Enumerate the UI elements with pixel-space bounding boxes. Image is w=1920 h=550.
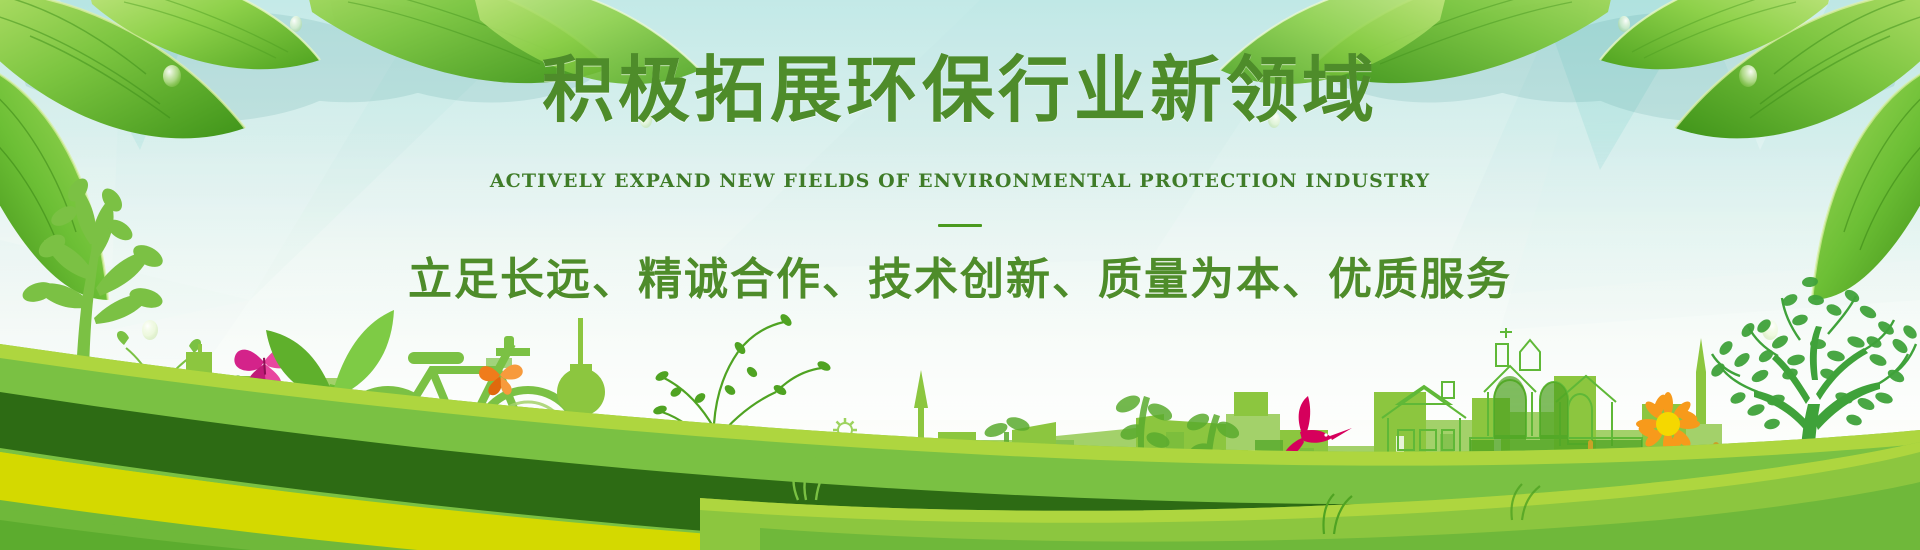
- cattail-grass-icon: [1644, 438, 1710, 532]
- cattail-head: [1588, 440, 1593, 454]
- eco-banner: 积极拓展环保行业新领域 ACTIVELY EXPAND NEW FIELDS O…: [0, 0, 1920, 550]
- fence-icon: [1560, 484, 1626, 514]
- leafy-tree-icon: [1709, 276, 1919, 520]
- title-divider: [938, 224, 982, 227]
- page-subtitle: ACTIVELY EXPAND NEW FIELDS OF ENVIRONMEN…: [0, 170, 1920, 192]
- village-foreground: [1255, 440, 1374, 534]
- grass-tuft-icon: [203, 404, 254, 470]
- european-house-line-art-icon: [1382, 328, 1642, 528]
- building-windows: [1098, 436, 1501, 522]
- grass-tuft-icon: [1511, 484, 1540, 520]
- page-title: 积极拓展环保行业新领域: [0, 54, 1920, 126]
- cattail-head: [1737, 452, 1743, 467]
- cattail-grass-icon: [1562, 448, 1590, 500]
- oriental-pearl-tower-icon: [552, 318, 610, 542]
- small-flower-outline-icon: [833, 418, 857, 442]
- hummingbird-icon: [1280, 396, 1352, 464]
- city-skyline-icon: [186, 344, 390, 478]
- cattail-head: [1713, 442, 1719, 458]
- water-droplet-icon: [142, 320, 158, 340]
- building-dots: [221, 375, 247, 395]
- grass-tuft-icon: [1323, 494, 1352, 534]
- branching-plant-icon: [658, 322, 822, 520]
- building-shading: [1056, 432, 1454, 534]
- city-skyline-icon: [860, 338, 1722, 534]
- flower-pink-icon: [868, 466, 900, 498]
- grass-hill-wave-shape: [0, 344, 1920, 550]
- tower-rungs: [576, 416, 587, 503]
- sunflower-icon: [1624, 392, 1716, 520]
- flower-orange-icon: [208, 399, 254, 445]
- skyline-vine-icon: [983, 392, 1242, 480]
- company-tagline: 立足长远、精诚合作、技术创新、质量为本、优质服务: [0, 258, 1920, 302]
- sapling-tree-icon: [20, 175, 166, 470]
- branch-leaf-tips: [113, 331, 201, 400]
- red-stick-accent: [944, 472, 962, 494]
- ladybug-icon: [990, 469, 1031, 499]
- village-fill: [1470, 376, 1642, 532]
- grass-tuft-icon: [794, 458, 835, 500]
- red-berries: [580, 458, 604, 492]
- flower-pink-icon: [1581, 452, 1613, 504]
- cattail-grass-icon: [1685, 450, 1738, 514]
- butterfly-icon: [234, 347, 296, 391]
- bicycle-details: [408, 336, 530, 450]
- bicycle-icon: [336, 344, 580, 494]
- butterfly-icon: [479, 365, 523, 396]
- plant-leaf-buds: [649, 312, 833, 462]
- water-droplet-icon: [290, 16, 302, 32]
- grass-tuft-icon: [868, 462, 987, 524]
- sprout-leaf-icon: [266, 310, 398, 478]
- small-yellow-dot: [891, 495, 901, 505]
- title-divider-wrap: [0, 224, 1920, 227]
- thin-branch-plant-icon: [122, 348, 192, 470]
